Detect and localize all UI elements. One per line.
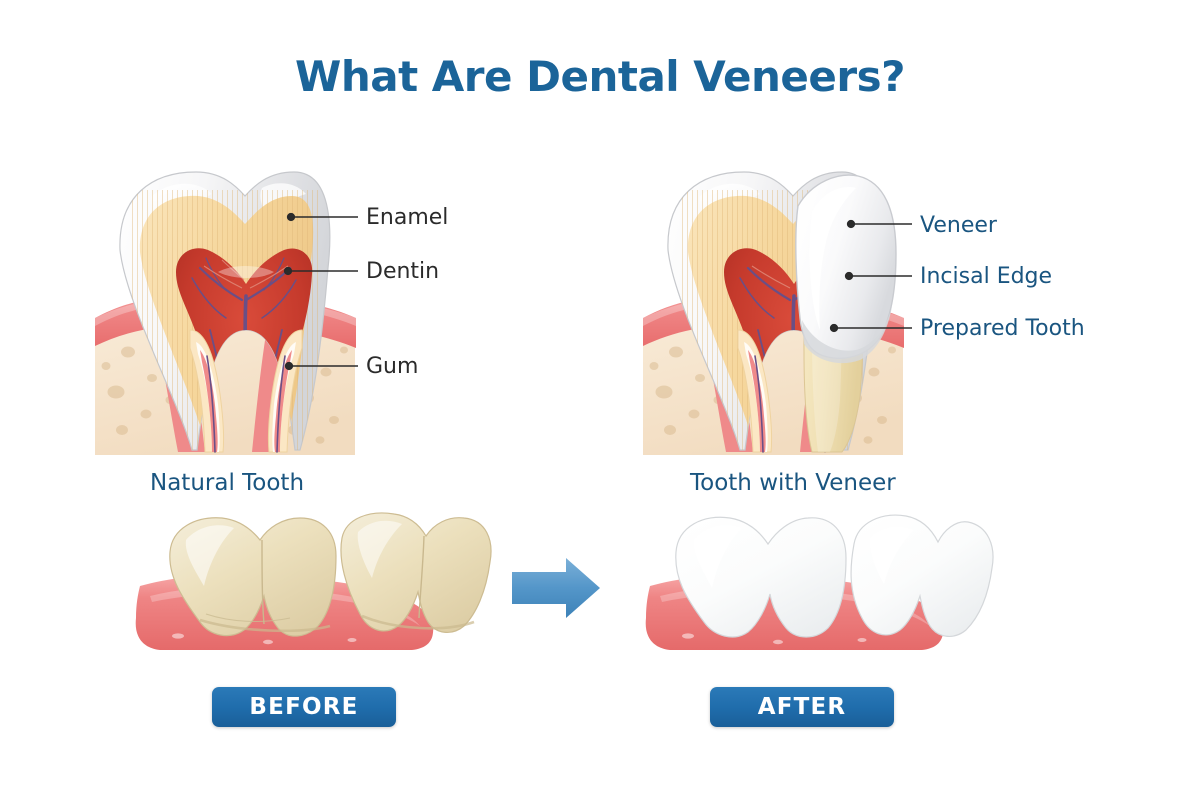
tooth-roots-right (738, 330, 850, 452)
caption-natural-tooth: Natural Tooth (150, 470, 304, 496)
dentin-layer-right (678, 190, 868, 460)
prepared-tooth-surface (800, 252, 863, 452)
pulp-chamber-right (724, 248, 860, 452)
veneer-incisal-edge (802, 306, 892, 363)
bone-tissue-right (643, 304, 903, 455)
leader-dot-prepared (831, 325, 838, 332)
label-prepared-tooth: Prepared Tooth (920, 316, 1085, 341)
label-veneer: Veneer (920, 213, 997, 238)
root-outline (190, 330, 302, 452)
bone-tissue (95, 304, 355, 455)
before-tooth-1 (170, 518, 336, 636)
tooth-roots (196, 329, 232, 452)
before-gum (136, 575, 433, 650)
after-tooth-2 (851, 515, 993, 636)
leader-dot-gum (286, 363, 293, 370)
leader-dot-incisal (846, 273, 853, 280)
leader-dot-veneer (848, 221, 855, 228)
leader-dot-dentin (285, 268, 292, 275)
veneer-shell (796, 175, 896, 363)
label-dentin: Dentin (366, 259, 439, 284)
label-gum: Gum (366, 354, 418, 379)
page-title: What Are Dental Veneers? (0, 52, 1200, 101)
illustration-layer (0, 0, 1200, 800)
dental-veneers-infographic: What Are Dental Veneers? (0, 0, 1200, 800)
natural-tooth-diagram (95, 172, 358, 460)
leader-lines-left (285, 214, 358, 370)
label-incisal-edge: Incisal Edge (920, 264, 1052, 289)
gum-tissue-right (643, 294, 904, 452)
after-teeth-illustration (646, 515, 993, 650)
before-teeth-illustration (136, 513, 491, 650)
enamel-layer-right (668, 172, 878, 450)
caption-tooth-with-veneer: Tooth with Veneer (690, 470, 896, 496)
before-tooth-2 (341, 513, 491, 632)
right-arrow-icon (512, 558, 600, 618)
dentin-layer (130, 190, 320, 460)
leader-lines-right (831, 221, 912, 332)
enamel-layer (120, 172, 330, 450)
after-tooth-1 (676, 517, 846, 637)
label-enamel: Enamel (366, 205, 448, 230)
after-gum (646, 575, 943, 650)
veneered-tooth-diagram (643, 172, 912, 460)
after-badge: AFTER (710, 687, 894, 727)
before-badge: BEFORE (212, 687, 396, 727)
pulp-chamber (176, 248, 312, 452)
leader-dot-enamel (288, 214, 295, 221)
gum-tissue (95, 294, 356, 452)
